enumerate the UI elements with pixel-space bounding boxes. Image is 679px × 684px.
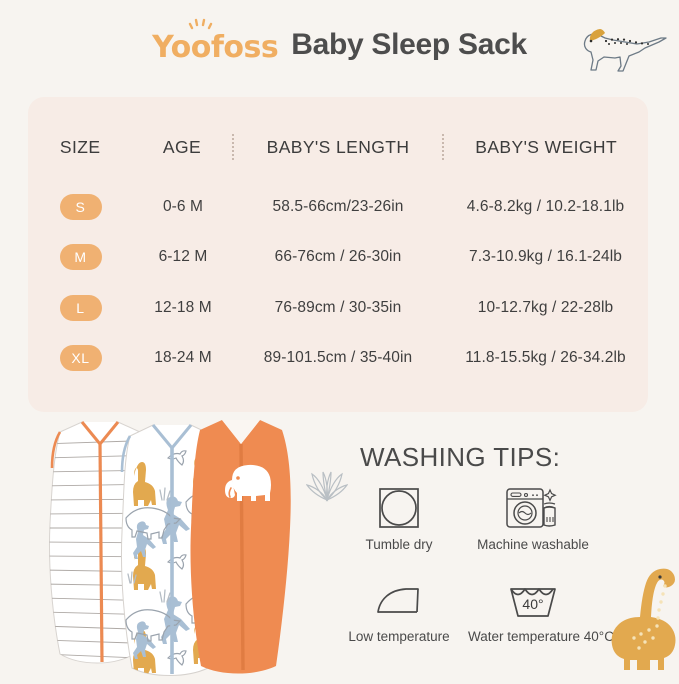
column-header-size: SIZE	[28, 137, 132, 158]
page-header: Yo ofoss Baby Sleep Sack	[0, 0, 679, 90]
cell-length: 89-101.5cm / 35-40in	[233, 349, 443, 367]
page-title: Baby Sleep Sack	[291, 28, 527, 62]
cell-age: 0-6 M	[133, 198, 233, 216]
brand-logo-text-part1: Yo	[152, 30, 191, 65]
washing-tip-water-temperature: 40° Water temperature 40°C	[468, 574, 598, 644]
size-badge-cell: XL	[28, 345, 133, 371]
cell-length: 66-76cm / 26-30in	[233, 248, 443, 266]
wash-temp-value: 40°	[522, 596, 543, 612]
product-image-group	[22, 414, 312, 679]
status-badge: L	[60, 295, 102, 321]
size-badge-cell: M	[28, 244, 133, 270]
cell-age: 12-18 M	[133, 299, 233, 317]
size-chart-panel: SIZE AGE BABY'S LENGTH BABY'S WEIGHT S 0…	[28, 97, 648, 412]
table-row: L 12-18 M 76-89cm / 30-35in 10-12.7kg / …	[28, 283, 648, 333]
sun-rays-icon	[188, 17, 214, 30]
tip-label: Machine washable	[468, 537, 598, 552]
column-header-weight: BABY'S WEIGHT	[444, 137, 648, 158]
brand-logo-sun: o	[191, 30, 211, 65]
machine-wash-icon	[468, 482, 598, 534]
tip-label: Low temperature	[334, 629, 464, 644]
table-row: S 0-6 M 58.5-66cm/23-26in 4.6-8.2kg / 10…	[28, 182, 648, 232]
status-badge: M	[60, 244, 102, 270]
cell-weight: 7.3-10.9kg / 16.1-24lb	[443, 248, 648, 266]
tip-label: Tumble dry	[334, 537, 464, 552]
cell-weight: 11.8-15.5kg / 26-34.2lb	[443, 349, 648, 367]
status-badge: S	[60, 194, 102, 220]
wash-40c-icon: 40°	[468, 574, 598, 626]
table-header-row: SIZE AGE BABY'S LENGTH BABY'S WEIGHT	[28, 129, 648, 165]
cell-weight: 4.6-8.2kg / 10.2-18.1lb	[443, 198, 648, 216]
table-row: M 6-12 M 66-76cm / 26-30in 7.3-10.9kg / …	[28, 232, 648, 282]
cell-weight: 10-12.7kg / 22-28lb	[443, 299, 648, 317]
column-header-age: AGE	[132, 137, 231, 158]
brand-logo: Yo ofoss	[152, 30, 278, 65]
cell-age: 6-12 M	[133, 248, 233, 266]
cell-length: 76-89cm / 30-35in	[233, 299, 443, 317]
washing-tips-title: WASHING TIPS:	[360, 442, 560, 473]
low-iron-icon	[334, 574, 464, 626]
cell-length: 58.5-66cm/23-26in	[233, 198, 443, 216]
brontosaurus-icon	[601, 564, 679, 679]
product-orange-sleep-sack	[190, 420, 290, 674]
cell-age: 18-24 M	[133, 349, 233, 367]
size-badge-cell: S	[28, 194, 133, 220]
column-header-length: BABY'S LENGTH	[234, 137, 443, 158]
washing-tips-section: WASHING TIPS: Tumble dry	[318, 420, 679, 679]
washing-tip-low-temperature: Low temperature	[334, 574, 464, 644]
parasaurolophus-outline-icon	[571, 16, 669, 81]
washing-tip-machine-washable: Machine washable	[468, 482, 598, 552]
size-badge-cell: L	[28, 295, 133, 321]
tumble-dry-icon	[334, 482, 464, 534]
washing-tip-tumble-dry: Tumble dry	[334, 482, 464, 552]
status-badge: XL	[60, 345, 102, 371]
table-row: XL 18-24 M 89-101.5cm / 35-40in 11.8-15.…	[28, 333, 648, 383]
tip-label: Water temperature 40°C	[468, 629, 598, 644]
brand-logo-text-part2: foss	[211, 30, 278, 65]
size-chart-table: SIZE AGE BABY'S LENGTH BABY'S WEIGHT S 0…	[28, 97, 648, 412]
